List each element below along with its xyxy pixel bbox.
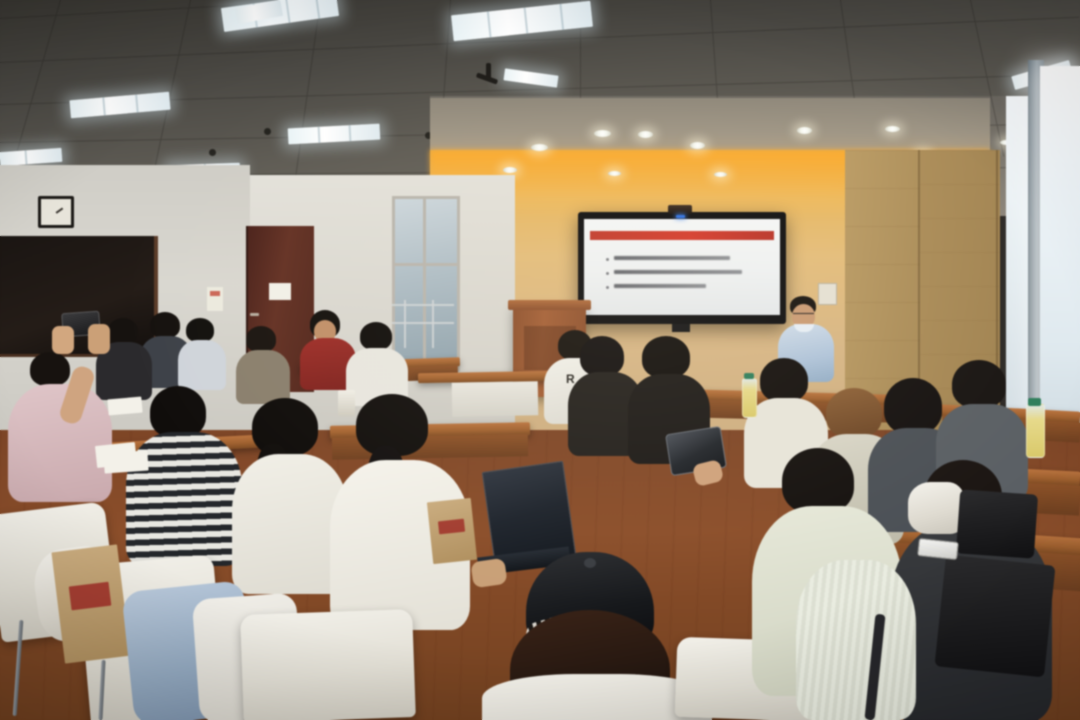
slide-bullet-marker bbox=[606, 258, 609, 261]
cap-button bbox=[584, 558, 596, 568]
lectern-top bbox=[508, 300, 591, 310]
door-notice bbox=[269, 283, 291, 300]
phone-holding-hand bbox=[52, 326, 74, 354]
slide-bullet-line bbox=[614, 256, 730, 260]
presentation-slide bbox=[584, 219, 780, 315]
recessed-downlight bbox=[531, 144, 548, 151]
door-handle[interactable] bbox=[250, 313, 259, 316]
wall-outlet-plate bbox=[818, 283, 837, 305]
window-railing bbox=[392, 300, 454, 352]
status-led-icon bbox=[676, 215, 685, 218]
ceiling-sensor bbox=[209, 149, 216, 156]
recessed-downlight bbox=[638, 131, 653, 138]
cup[interactable] bbox=[338, 390, 355, 416]
seminar-room-photo: R bbox=[0, 0, 1080, 720]
phone-holding-hand bbox=[88, 324, 110, 354]
ceiling-sensor bbox=[264, 128, 271, 135]
paper-shopping-bag bbox=[427, 498, 477, 564]
recessed-downlight bbox=[503, 167, 517, 173]
plastic-bag bbox=[908, 482, 964, 534]
classroom-chair[interactable] bbox=[240, 609, 416, 720]
recessed-downlight bbox=[714, 172, 727, 177]
right-window bbox=[1040, 66, 1080, 466]
presenter-glasses-icon bbox=[793, 313, 814, 318]
recessed-downlight bbox=[690, 142, 705, 149]
display-mount bbox=[672, 324, 690, 332]
bottle-cap bbox=[744, 373, 754, 379]
bottle-cap bbox=[1028, 398, 1041, 406]
black-handbag[interactable] bbox=[956, 489, 1038, 558]
black-handbag[interactable] bbox=[934, 555, 1055, 678]
slide-bullet-marker bbox=[606, 272, 609, 275]
ceiling-soffit bbox=[430, 98, 990, 156]
recessed-downlight bbox=[608, 171, 621, 176]
paper-shopping-bag bbox=[51, 544, 130, 663]
slide-title-bar bbox=[590, 231, 774, 240]
laptop-typing-hand bbox=[470, 558, 507, 588]
right-window-inner bbox=[1006, 96, 1030, 456]
recessed-downlight bbox=[594, 130, 611, 137]
recessed-downlight bbox=[885, 126, 900, 132]
wall-sign bbox=[207, 287, 223, 311]
wall-clock bbox=[38, 196, 74, 228]
slide-bullet-marker bbox=[606, 286, 609, 289]
recessed-downlight bbox=[797, 127, 812, 134]
slide-bullet-line bbox=[614, 284, 706, 288]
papers-on-desk bbox=[103, 450, 148, 473]
desk-modesty-panel bbox=[452, 381, 539, 416]
drink-bottle[interactable] bbox=[742, 378, 757, 418]
slide-bullet-line bbox=[614, 270, 742, 274]
shirt-letter-r: R bbox=[566, 372, 575, 386]
papers-on-desk bbox=[107, 397, 142, 416]
video-conference-camera bbox=[668, 205, 692, 214]
drink-bottle[interactable] bbox=[1026, 404, 1045, 458]
